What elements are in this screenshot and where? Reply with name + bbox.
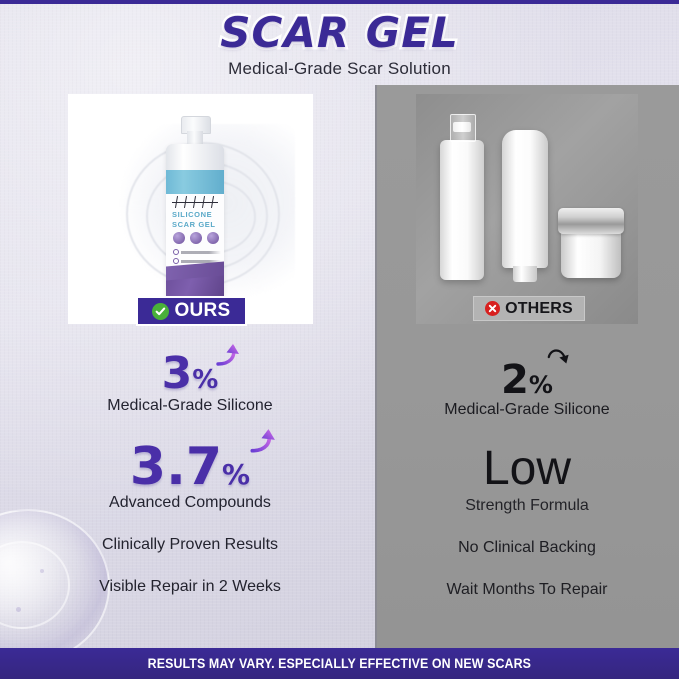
others-stat-1-value: 2 [501,357,529,403]
ours-stat-2: 3.7% Advanced Compounds [20,441,360,512]
infographic-root: SCAR GEL Medical-Grade Scar Solution [0,0,679,679]
competitor-jar [558,208,624,280]
check-circle-icon [152,303,169,320]
feature-icon-3 [207,232,219,244]
ours-stat-1: 3% Medical-Grade Silicone [20,352,360,415]
competitor-product-image [416,94,638,324]
top-accent-strip [0,0,679,4]
product-bottle: SILICONE SCAR GEL [164,116,226,308]
feature-icon-1 [173,232,185,244]
others-stat-1: 2% Medical-Grade Silicone [382,360,672,419]
ours-claim-2: Visible Repair in 2 Weeks [20,578,360,596]
ours-stat-1-unit: % [192,365,218,395]
ours-badge-label: OURS [174,300,230,322]
ours-claim-1: Clinically Proven Results [20,536,360,554]
suture-graphic [172,196,218,208]
bottle-neck [187,131,203,145]
others-comparison-column: 2% Medical-Grade Silicone Low Strength F… [382,360,672,599]
ours-stat-2-value: 3.7 [130,437,222,497]
down-arrow-icon [545,346,571,372]
bottle-feature-icons [173,232,221,244]
others-badge-label: OTHERS [505,300,573,318]
others-badge: OTHERS [473,296,585,321]
our-product-image: SILICONE SCAR GEL [68,94,313,324]
feature-icon-2 [190,232,202,244]
others-stat-1-label: Medical-Grade Silicone [382,401,672,419]
others-word-stat-label: Strength Formula [382,497,672,515]
others-word-stat-value: Low [382,445,672,493]
page-subtitle: Medical-Grade Scar Solution [0,59,679,79]
ours-badge: OURS [136,296,247,326]
others-word-stat: Low Strength Formula [382,445,672,515]
up-arrow-icon [248,427,274,453]
bottle-body: SILICONE SCAR GEL [166,144,224,308]
ours-stat-1-label: Medical-Grade Silicone [20,397,360,415]
others-claim-2: Wait Months To Repair [382,581,672,599]
footer-disclaimer-bar: RESULTS MAY VARY. ESPECIALLY EFFECTIVE O… [0,648,679,679]
up-arrow-icon [214,342,240,368]
ours-stat-2-unit: % [222,458,250,491]
others-stat-1-unit: % [529,371,553,399]
others-claim-1: No Clinical Backing [382,539,672,557]
ours-stat-1-value: 3 [162,348,193,399]
competitor-tube [502,130,548,282]
header: SCAR GEL Medical-Grade Scar Solution [0,0,679,88]
page-title-text: SCAR GEL [220,0,458,57]
page-title: SCAR GEL [220,0,458,57]
competitor-bottle [440,114,484,284]
ours-comparison-column: 3% Medical-Grade Silicone 3.7% [20,352,360,596]
x-circle-icon [485,301,500,316]
bottle-label-text: SILICONE SCAR GEL [172,210,222,230]
footer-disclaimer-text: RESULTS MAY VARY. ESPECIALLY EFFECTIVE O… [148,656,531,671]
